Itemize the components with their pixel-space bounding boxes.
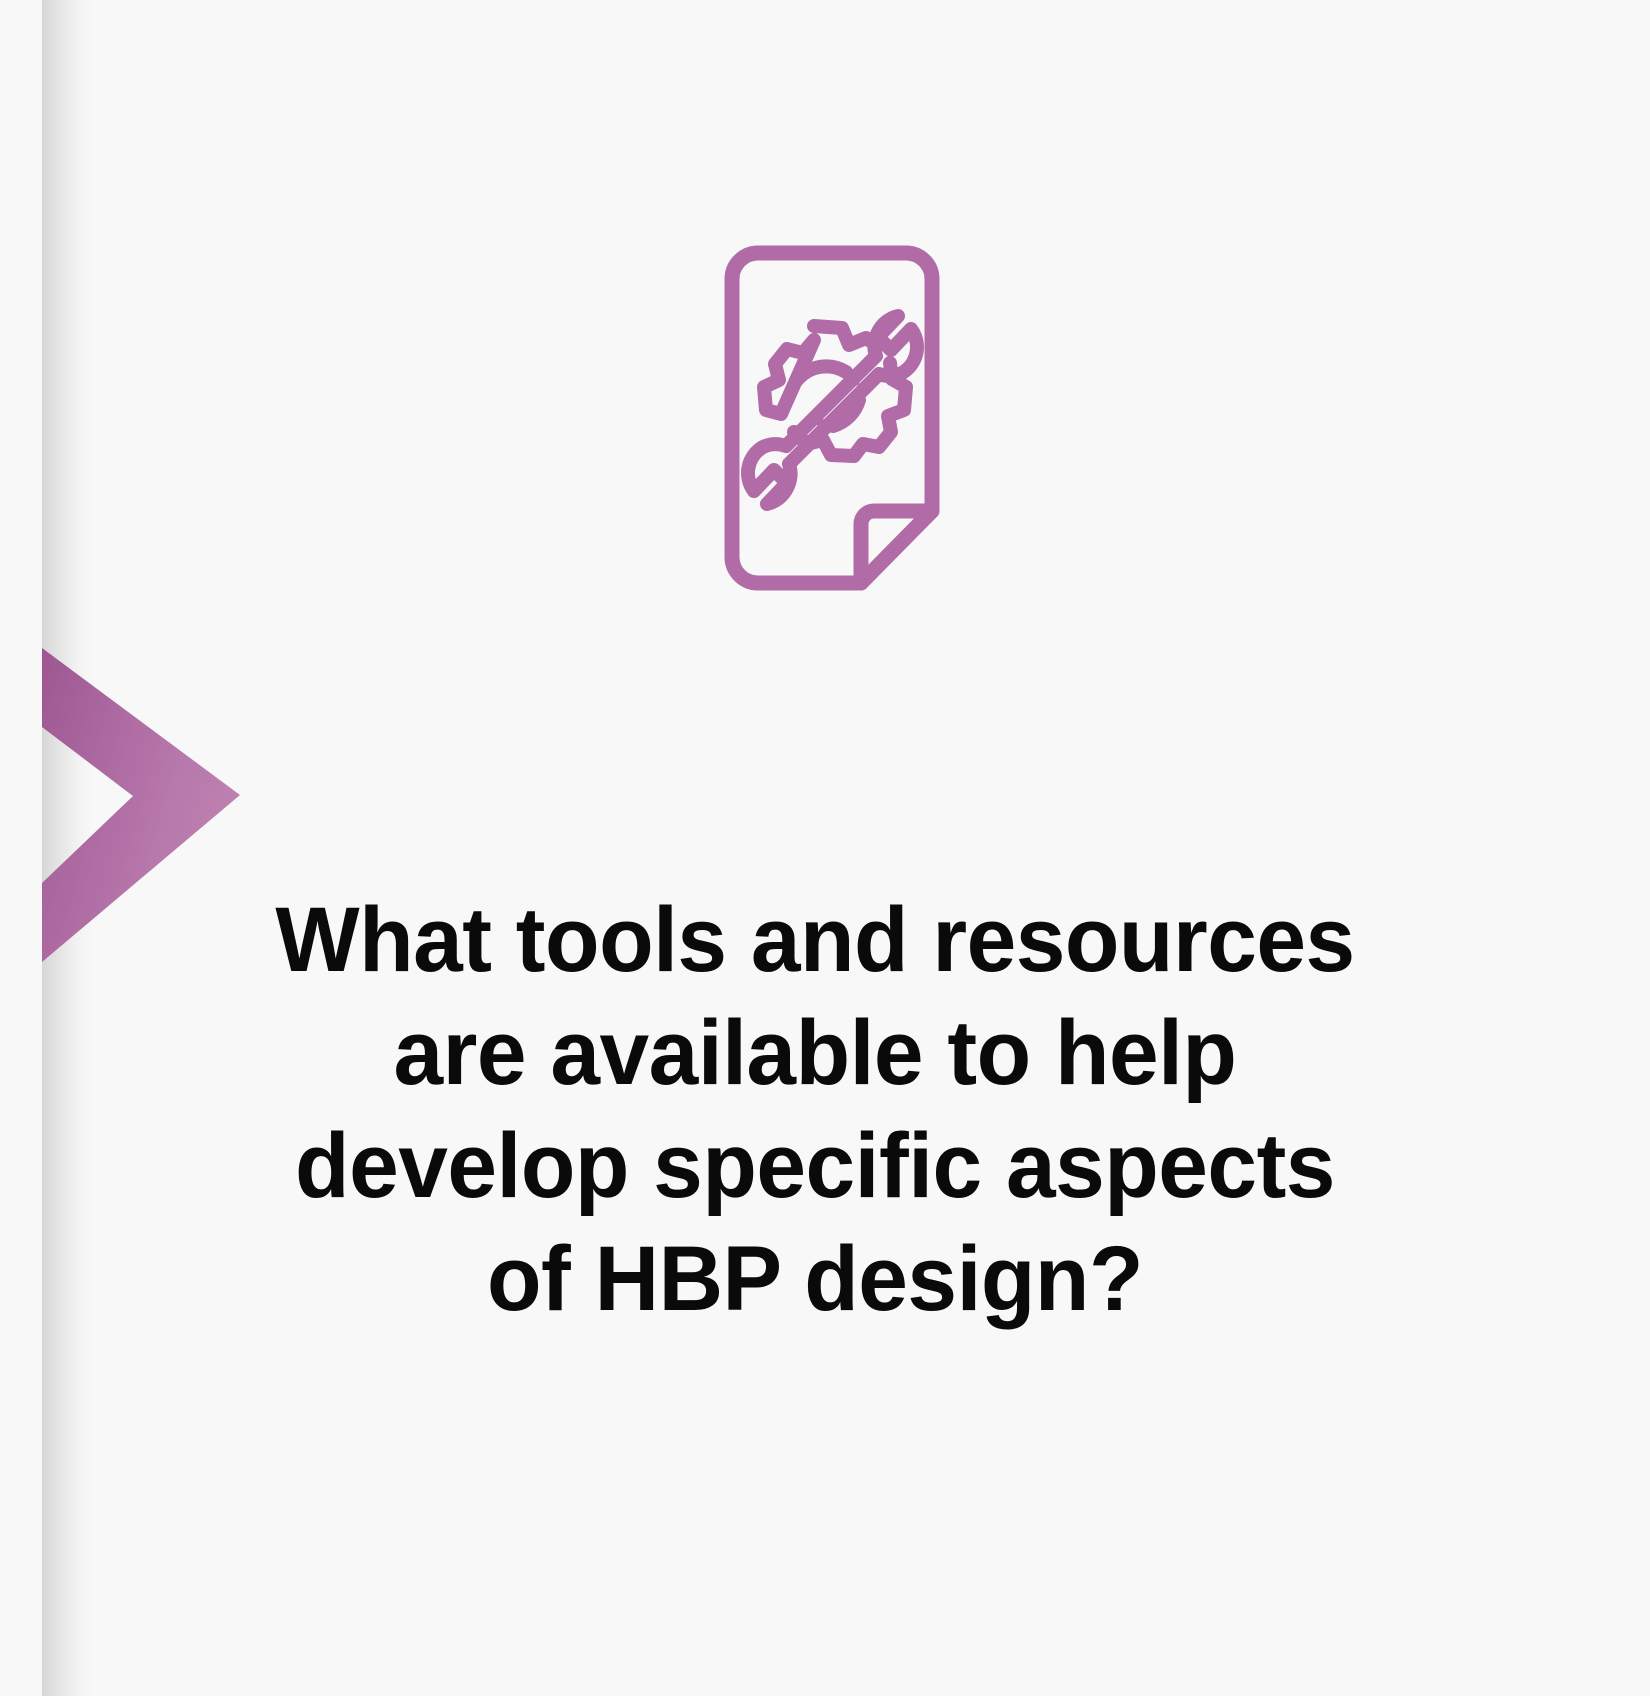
page-title: What tools and resources are available t… — [209, 884, 1422, 1336]
document-with-gear-and-wrench-icon — [663, 233, 963, 623]
page-corner-fold — [861, 511, 932, 583]
slide-canvas: What tools and resources are available t… — [0, 0, 1650, 1696]
